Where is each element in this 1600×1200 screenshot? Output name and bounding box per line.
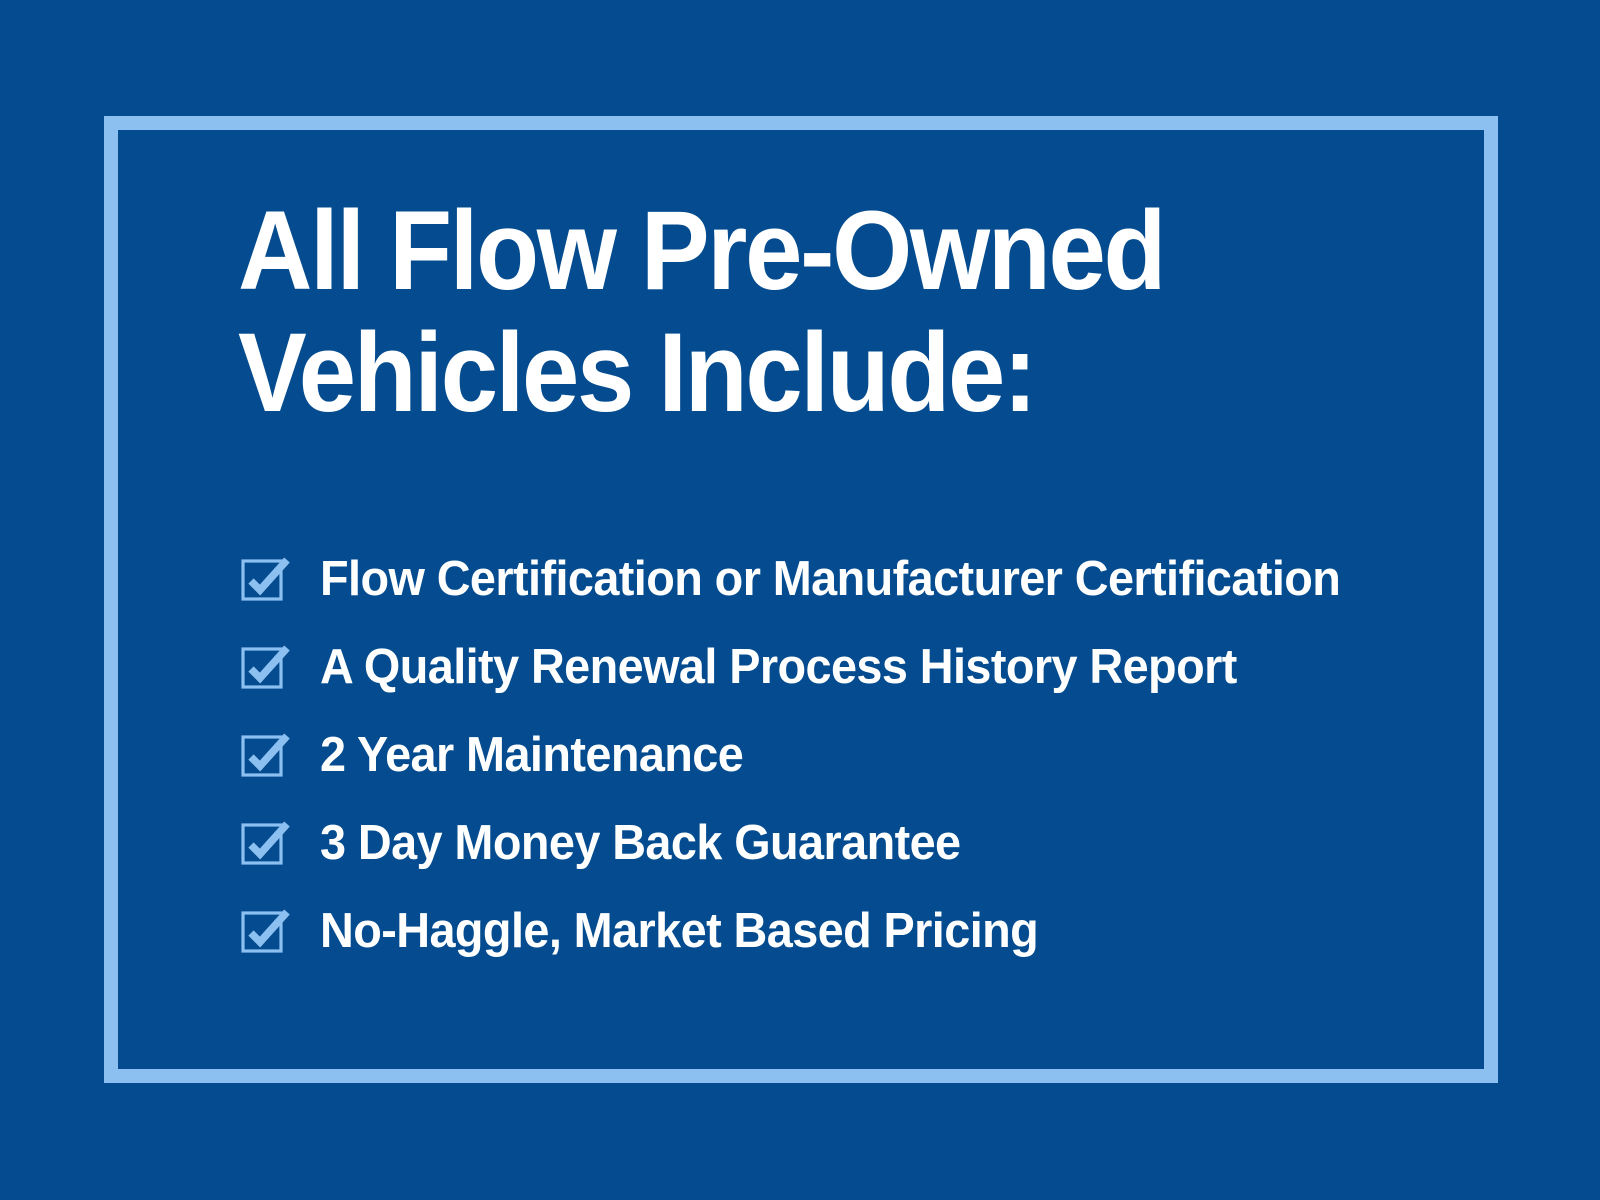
list-item: 3 Day Money Back Guarantee [240, 799, 1450, 887]
page-title-line-1: All Flow Pre-Owned [238, 190, 1342, 312]
checkbox-checked-icon [240, 733, 294, 779]
checkbox-checked-icon [240, 557, 294, 603]
list-item-label: 3 Day Money Back Guarantee [320, 817, 961, 869]
list-item-label: No-Haggle, Market Based Pricing [320, 905, 1038, 957]
list-item: Flow Certification or Manufacturer Certi… [240, 535, 1450, 623]
poster-content: All Flow Pre-Owned Vehicles Include: Flo… [238, 190, 1438, 434]
list-item: 2 Year Maintenance [240, 711, 1450, 799]
checkbox-checked-icon [240, 909, 294, 955]
benefits-checklist: Flow Certification or Manufacturer Certi… [240, 535, 1450, 975]
promo-poster: All Flow Pre-Owned Vehicles Include: Flo… [0, 0, 1600, 1200]
list-item-label: Flow Certification or Manufacturer Certi… [320, 553, 1340, 605]
page-title-line-2: Vehicles Include: [238, 312, 1342, 434]
page-title: All Flow Pre-Owned Vehicles Include: [238, 190, 1342, 434]
list-item: No-Haggle, Market Based Pricing [240, 887, 1450, 975]
checkbox-checked-icon [240, 645, 294, 691]
list-item-label: A Quality Renewal Process History Report [320, 641, 1237, 693]
list-item: A Quality Renewal Process History Report [240, 623, 1450, 711]
checkbox-checked-icon [240, 821, 294, 867]
list-item-label: 2 Year Maintenance [320, 729, 743, 781]
